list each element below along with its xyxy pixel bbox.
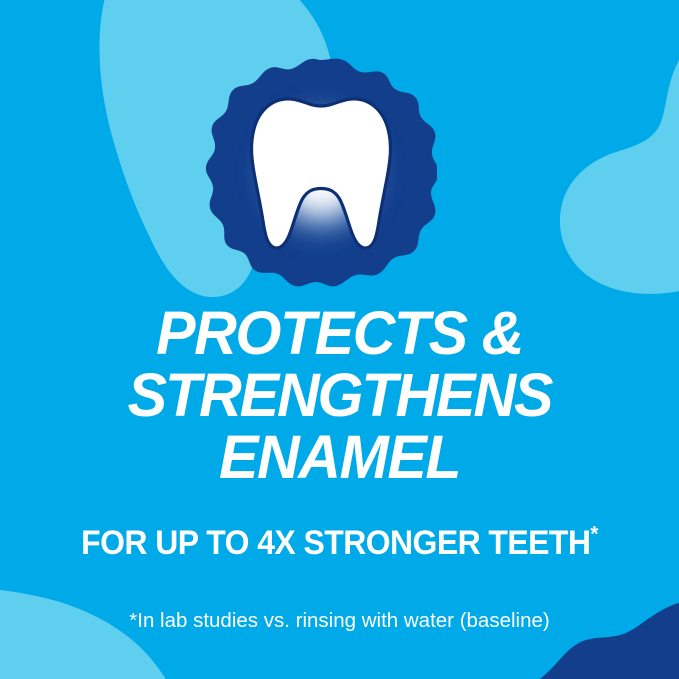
headline: PROTECTS & STRENGTHENS ENAMEL (0, 302, 679, 488)
subheadline-text: FOR UP TO 4X STRONGER TEETH (81, 524, 590, 562)
subheadline: FOR UP TO 4X STRONGER TEETH* (20, 524, 658, 562)
footnote-text: *In lab studies vs. rinsing with water (… (0, 608, 679, 634)
product-claim-panel: PROTECTS & STRENGTHENS ENAMEL FOR UP TO … (0, 0, 679, 679)
headline-line-2: STRENGTHENS (10, 364, 669, 426)
claim-text-block: PROTECTS & STRENGTHENS ENAMEL FOR UP TO … (0, 0, 679, 679)
headline-line-3: ENAMEL (10, 426, 669, 488)
headline-line-1: PROTECTS & (10, 302, 669, 364)
footnote-marker: * (590, 522, 597, 547)
